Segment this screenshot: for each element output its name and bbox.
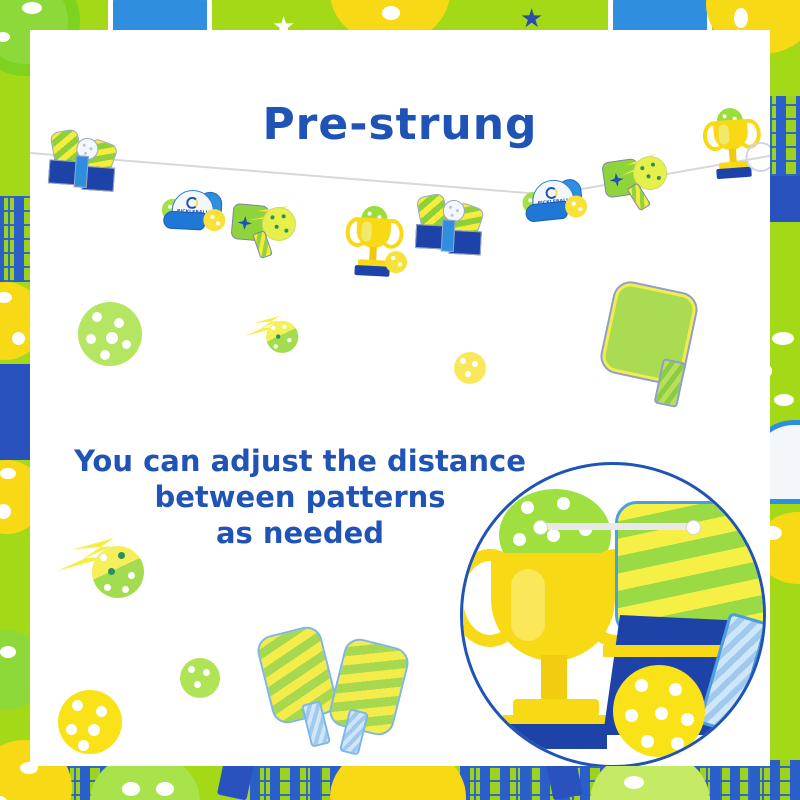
crossed-paddles-striped: [260, 624, 430, 734]
trophy-base: [354, 265, 389, 277]
pickleball-motif: [564, 194, 588, 218]
pickleball-streak-large: [58, 532, 158, 606]
paddle-green-large: [608, 288, 694, 408]
body-line-2: between patterns: [154, 480, 445, 514]
body-line-3: as needed: [216, 516, 384, 550]
trophy-cup: [491, 553, 615, 661]
pickleball-yellow-large: [58, 690, 122, 754]
pickleball-motif: [203, 209, 226, 232]
content-card: Pre-strung: [30, 30, 770, 766]
pendant-trophy: [702, 106, 763, 182]
pendant-string-zoom: [537, 523, 697, 530]
pickleball-motif: [385, 251, 408, 274]
pendant-cap: PICKLEBALL: [520, 175, 586, 227]
trophy-base: [716, 167, 752, 179]
pendant-paddle-ball: [600, 147, 678, 216]
pickleball-motif: [266, 321, 298, 353]
pendant-crossed-paddles: [47, 123, 126, 202]
pickleball-streak-small: [245, 312, 307, 358]
body-line-1: You can adjust the distance: [74, 444, 526, 478]
pickleball-green-large: [78, 302, 142, 366]
pendant-trophy: [344, 205, 404, 280]
pendant-crossed-paddles: [414, 188, 492, 266]
zoom-detail-circle: [460, 462, 766, 766]
trophy-stem: [541, 655, 567, 703]
pickleball-yellow-zoom: [613, 665, 705, 757]
pickleball-motif: [92, 546, 144, 598]
star-motif: ★: [520, 6, 543, 32]
poster: ★ ★: [0, 0, 800, 800]
pickleball-green-small: [180, 658, 220, 698]
paddle-blade: [326, 635, 412, 738]
page-title: Pre-strung: [30, 99, 770, 150]
pendant-paddle-ball: [229, 197, 304, 263]
pickleball-yellow-small: [454, 352, 486, 384]
pendant-cap: PICKLEBALL: [161, 186, 225, 235]
paddle-blade: [254, 623, 340, 726]
